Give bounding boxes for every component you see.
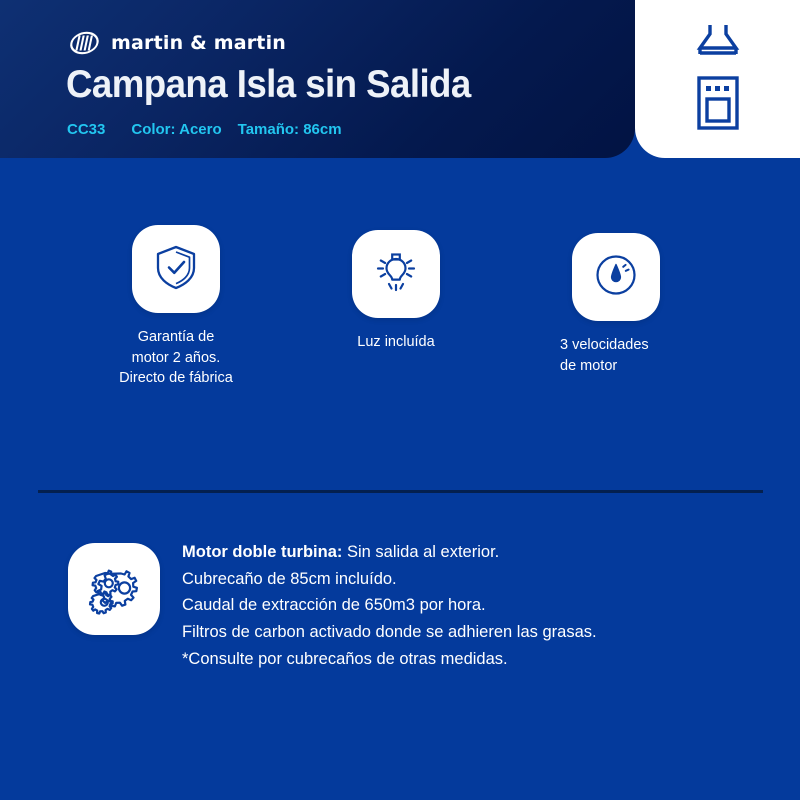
feature-item-warranty: Garantía de motor 2 años. Directo de fáb… — [132, 225, 276, 389]
description-line-bold: Motor doble turbina: — [182, 543, 342, 561]
product-meta: CC33 Color: Acero Tamaño: 86cm — [67, 121, 342, 138]
description-line: Caudal de extracción de 650m3 por hora. — [182, 592, 597, 619]
description-block: Motor doble turbina: Sin salida al exter… — [68, 543, 597, 673]
feature-item-light: Luz incluída — [352, 230, 496, 353]
oven-icon — [694, 74, 742, 137]
shield-check-icon — [150, 241, 202, 298]
product-color: Color: Acero — [131, 121, 221, 138]
feature-label: 3 velocidades de motor — [560, 335, 720, 376]
speed-gauge-icon — [589, 248, 643, 307]
brand-name: martin & martin — [111, 32, 286, 54]
feature-icon-card — [572, 233, 660, 321]
description-line: *Consulte por cubrecaños de otras medida… — [182, 646, 597, 673]
martin-logo-mark-icon — [68, 31, 102, 55]
description-lines: Motor doble turbina: Sin salida al exter… — [182, 539, 597, 673]
feature-row: Garantía de motor 2 años. Directo de fáb… — [0, 225, 800, 415]
feature-icon-card — [352, 230, 440, 318]
description-line: Motor doble turbina: Sin salida al exter… — [182, 539, 597, 566]
header-dark-panel: martin & martin Campana Isla sin Salida … — [0, 0, 635, 158]
description-line: Cubrecaño de 85cm incluído. — [182, 566, 597, 593]
header-category-icons — [635, 0, 800, 158]
description-line: Filtros de carbon activado donde se adhi… — [182, 619, 597, 646]
range-hood-icon — [695, 21, 741, 64]
page-title: Campana Isla sin Salida — [66, 65, 471, 106]
product-sku: CC33 — [67, 121, 105, 138]
description-line-rest: Sin salida al exterior. — [342, 543, 499, 561]
feature-icon-card — [132, 225, 220, 313]
feature-label: Garantía de motor 2 años. Directo de fáb… — [76, 327, 276, 389]
product-banner: martin & martin Campana Isla sin Salida … — [0, 0, 800, 800]
brand-logo: martin & martin — [68, 31, 286, 55]
product-size: Tamaño: 86cm — [238, 121, 342, 138]
feature-item-speeds: 3 velocidades de motor — [572, 233, 720, 376]
gears-icon — [85, 558, 143, 621]
description-icon-card — [68, 543, 160, 635]
section-divider — [38, 490, 763, 493]
lightbulb-icon — [369, 245, 423, 304]
feature-label: Luz incluída — [296, 332, 496, 353]
